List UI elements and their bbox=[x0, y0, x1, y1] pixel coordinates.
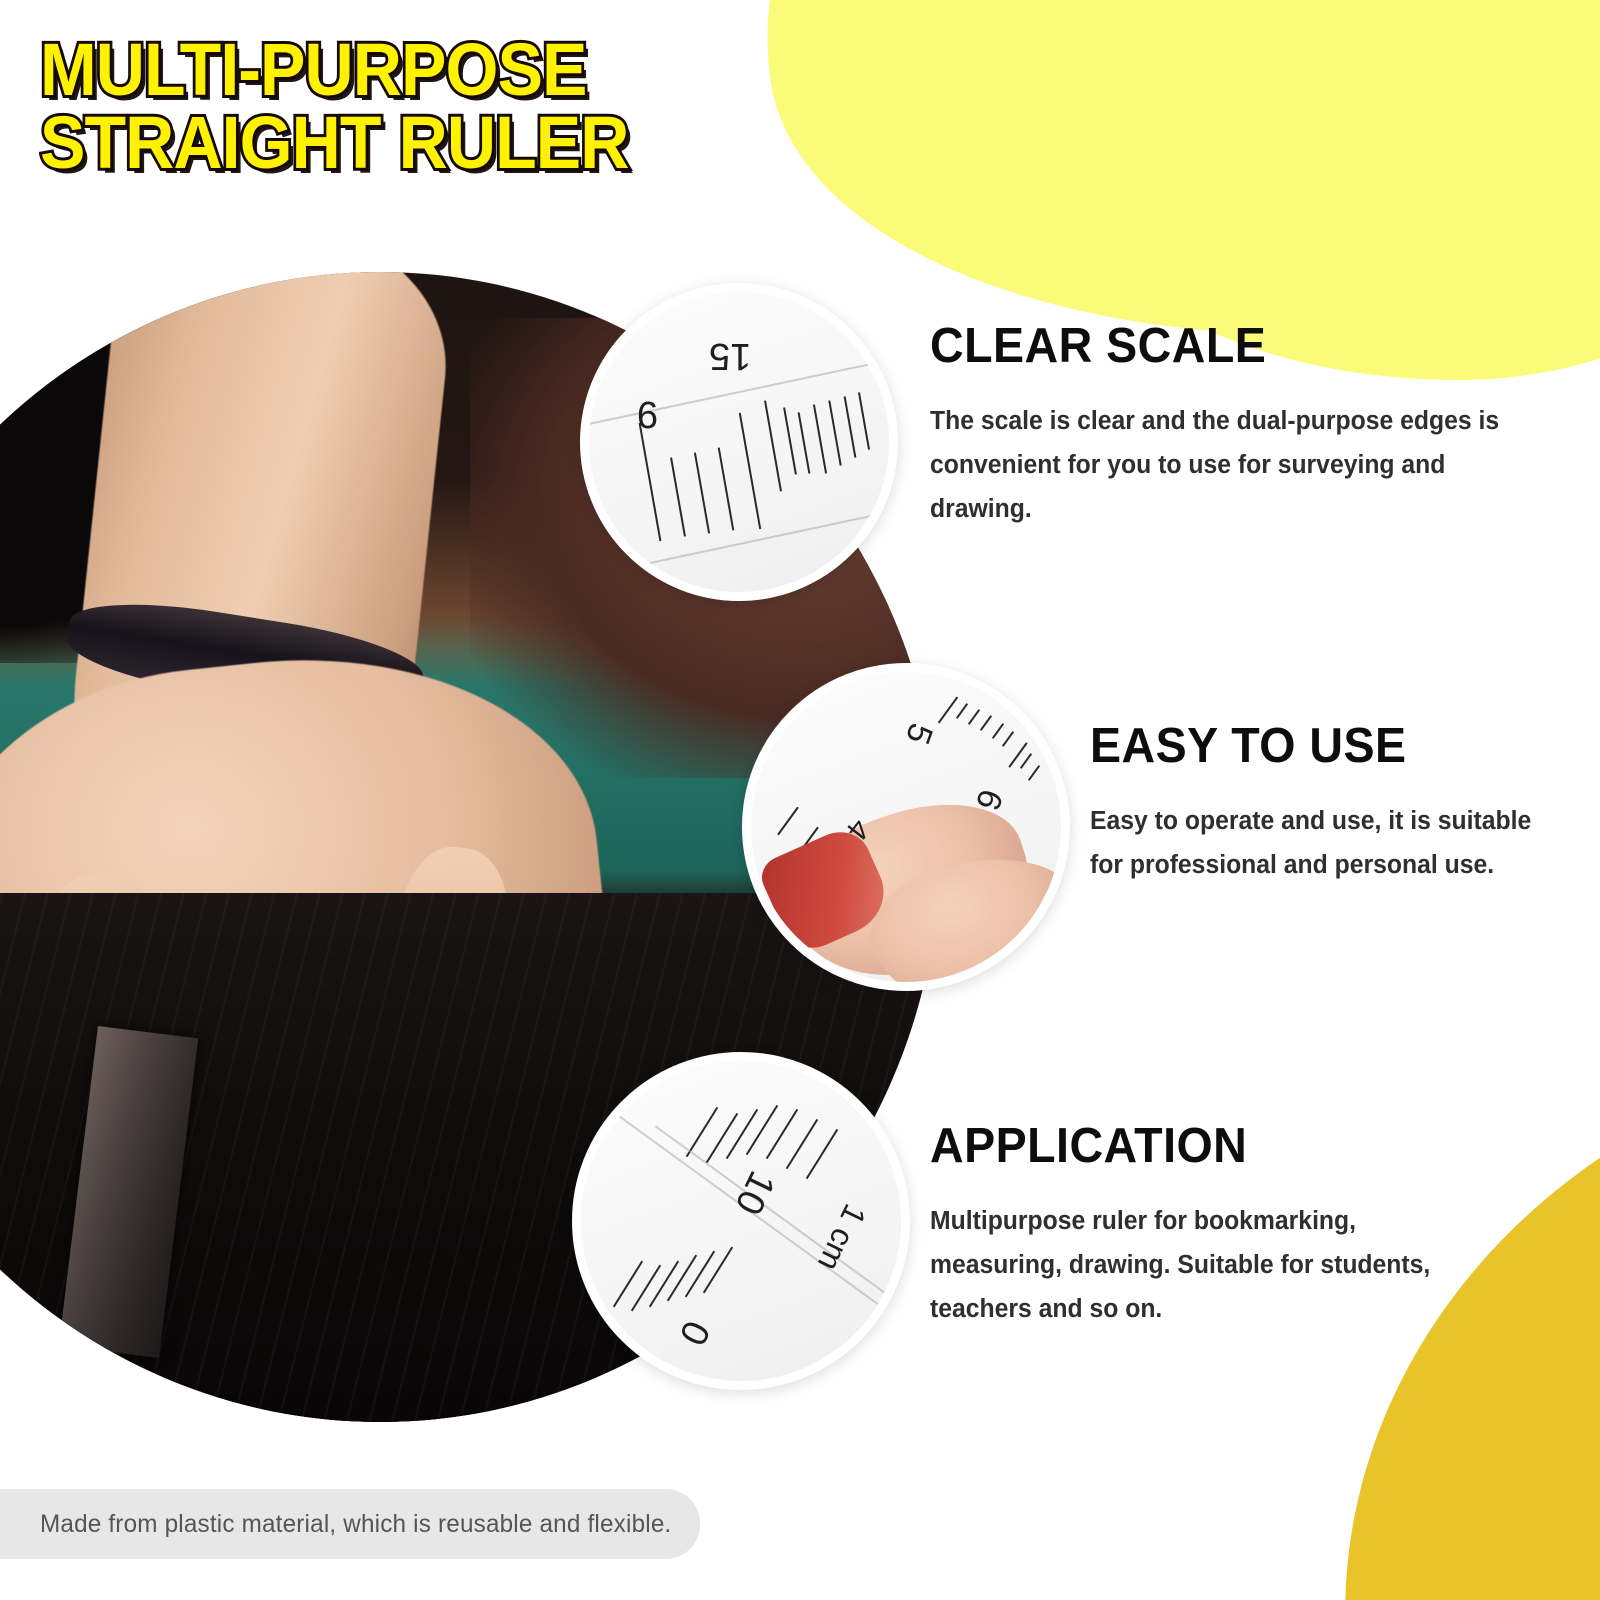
feature-heading: CLEAR SCALE bbox=[930, 318, 1500, 374]
callout-clear-scale: 9 15 bbox=[580, 283, 898, 601]
ruler-tick bbox=[1002, 731, 1014, 747]
ruler-tick bbox=[718, 447, 735, 530]
ruler-tick bbox=[968, 709, 980, 725]
ruler-tick bbox=[739, 413, 761, 530]
ruler-tick bbox=[980, 715, 992, 731]
ruler-number: 9 bbox=[637, 392, 658, 435]
ruler-tick bbox=[858, 392, 870, 449]
feature-heading: EASY TO USE bbox=[1090, 718, 1527, 774]
ruler-tick bbox=[806, 1129, 838, 1179]
page-title: MULTI-PURPOSE STRAIGHT RULER bbox=[40, 34, 680, 179]
ruler-tick bbox=[694, 452, 710, 533]
feature-body: Easy to operate and use, it is suitable … bbox=[1090, 800, 1536, 888]
ruler-tick bbox=[844, 396, 857, 457]
callout-easy-to-use: 5 6 4 bbox=[742, 663, 1070, 991]
ruler-tick bbox=[777, 807, 799, 836]
ruler-tick bbox=[685, 1251, 715, 1298]
feature-easy-to-use: EASY TO USE Easy to operate and use, it … bbox=[1090, 718, 1550, 888]
ruler-tick bbox=[667, 1255, 697, 1302]
ruler-tick bbox=[649, 1261, 679, 1308]
ruler-tick bbox=[813, 404, 827, 473]
ruler-tick bbox=[639, 423, 662, 542]
feature-body: Multipurpose ruler for bookmarking, meas… bbox=[930, 1200, 1473, 1332]
infographic-page: MULTI-PURPOSE STRAIGHT RULER bbox=[0, 0, 1600, 1600]
callout-application: 10 1 cm 0 bbox=[572, 1052, 910, 1390]
feature-heading: APPLICATION bbox=[930, 1118, 1462, 1174]
title-line-2: STRAIGHT RULER bbox=[40, 107, 628, 180]
feature-clear-scale: CLEAR SCALE The scale is clear and the d… bbox=[930, 318, 1530, 532]
ruler-number: 15 bbox=[709, 334, 751, 377]
ruler-tick bbox=[703, 1247, 733, 1294]
ruler-tick bbox=[670, 457, 686, 536]
ruler-tick bbox=[798, 412, 811, 473]
ruler-tick bbox=[783, 407, 797, 474]
ruler-tick bbox=[1028, 765, 1040, 781]
ruler-tick bbox=[786, 1119, 818, 1169]
ruler-tick bbox=[764, 401, 782, 492]
ruler-tick bbox=[938, 696, 958, 723]
ruler-tick bbox=[1020, 753, 1032, 769]
title-line-1: MULTI-PURPOSE bbox=[40, 34, 628, 107]
ruler-tick bbox=[828, 400, 841, 465]
footer-note-text: Made from plastic material, which is reu… bbox=[40, 1510, 671, 1539]
ruler-tick bbox=[992, 723, 1004, 739]
footer-note-bar: Made from plastic material, which is reu… bbox=[0, 1489, 700, 1559]
feature-application: APPLICATION Multipurpose ruler for bookm… bbox=[930, 1118, 1490, 1332]
ruler-tick bbox=[726, 1109, 758, 1159]
ruler-tick bbox=[956, 703, 968, 719]
ruler-tick bbox=[706, 1113, 738, 1163]
feature-body: The scale is clear and the dual-purpose … bbox=[930, 400, 1512, 532]
